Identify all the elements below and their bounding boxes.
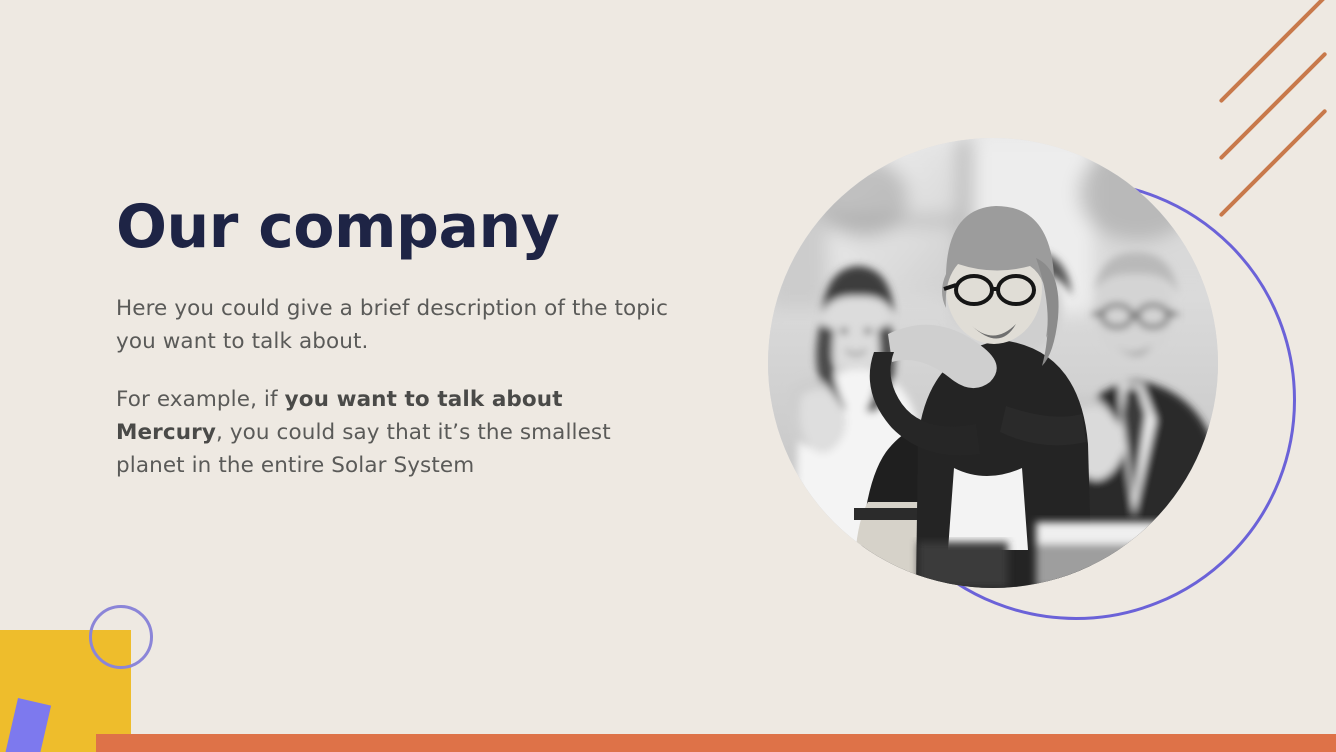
diagonal-line-icon	[1219, 0, 1328, 103]
text-column: Our company Here you could give a brief …	[116, 196, 676, 482]
team-photo	[768, 138, 1218, 588]
paragraph-2: For example, if you want to talk about M…	[116, 384, 676, 482]
slide-our-company: Our company Here you could give a brief …	[0, 0, 1336, 752]
orange-bottom-bar-decoration	[96, 734, 1336, 752]
diagonal-line-icon	[1219, 52, 1328, 161]
paragraph-1: Here you could give a brief description …	[116, 293, 676, 358]
diagonal-line-icon	[1219, 109, 1328, 218]
paragraph-2-lead: For example, if	[116, 387, 285, 412]
body-copy: Here you could give a brief description …	[116, 293, 676, 482]
purple-circle-outline-decoration	[89, 605, 153, 669]
page-title: Our company	[116, 196, 676, 259]
photo-area	[768, 138, 1228, 628]
team-photo-illustration	[768, 138, 1218, 588]
